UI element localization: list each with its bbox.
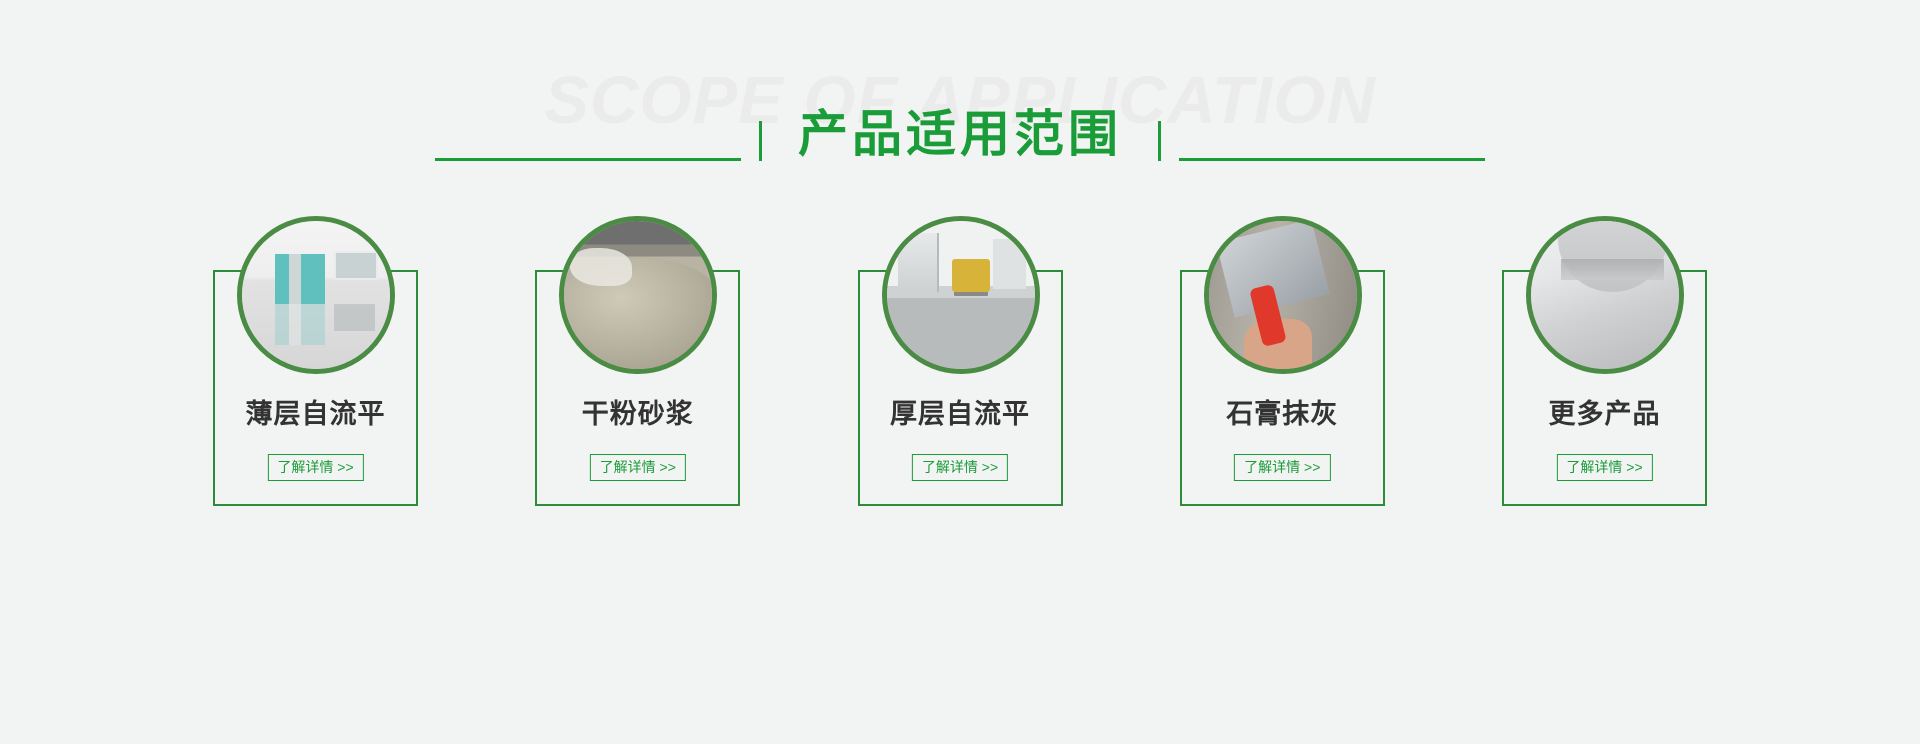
page-title: 产品适用范围 — [762, 104, 1158, 164]
thin-layer-self-leveling-floor-photo — [237, 216, 395, 374]
card-label: 薄层自流平 — [213, 392, 418, 431]
scope-of-application-section: SCOPE OF APPLICATION 产品适用范围 薄层自流平 了解详情 >… — [0, 0, 1920, 744]
detail-button[interactable]: 了解详情 >> — [912, 454, 1008, 481]
gypsum-plaster-trowel-photo — [1204, 216, 1362, 374]
application-card[interactable]: 更多产品 了解详情 >> — [1502, 216, 1707, 506]
card-label: 更多产品 — [1502, 392, 1707, 431]
application-card[interactable]: 厚层自流平 了解详情 >> — [858, 216, 1063, 506]
application-card[interactable]: 薄层自流平 了解详情 >> — [213, 216, 418, 506]
rule-right — [1179, 158, 1485, 161]
rule-left — [435, 158, 741, 161]
detail-button[interactable]: 了解详情 >> — [1234, 454, 1330, 481]
dry-mix-mortar-pile-photo — [559, 216, 717, 374]
card-label: 厚层自流平 — [858, 392, 1063, 431]
tick-left — [759, 121, 762, 161]
tick-right — [1158, 121, 1161, 161]
more-products-surface-photo — [1526, 216, 1684, 374]
section-header: SCOPE OF APPLICATION 产品适用范围 — [0, 0, 1920, 200]
application-card[interactable]: 干粉砂浆 了解详情 >> — [535, 216, 740, 506]
card-label: 石膏抹灰 — [1180, 392, 1385, 431]
application-card-list: 薄层自流平 了解详情 >> 干粉砂浆 了解详情 >> 厚层自流平 了解详情 >> — [213, 216, 1707, 506]
detail-button[interactable]: 了解详情 >> — [590, 454, 686, 481]
card-label: 干粉砂浆 — [535, 392, 740, 431]
thick-layer-self-leveling-workshop-photo — [882, 216, 1040, 374]
detail-button[interactable]: 了解详情 >> — [267, 454, 363, 481]
title-row: 产品适用范围 — [0, 104, 1920, 164]
detail-button[interactable]: 了解详情 >> — [1556, 454, 1652, 481]
application-card[interactable]: 石膏抹灰 了解详情 >> — [1180, 216, 1385, 506]
